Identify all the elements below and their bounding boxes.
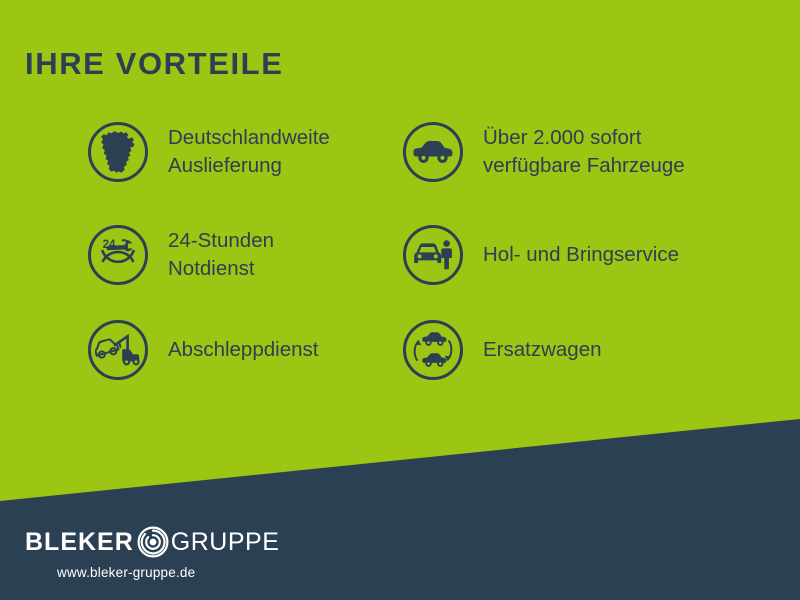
logo-lockup: BLEKER GRUPPE	[25, 525, 385, 559]
slide-canvas: IHRE VORTEILE Deutschlandweite Ausliefer…	[0, 0, 800, 600]
tow-truck-icon	[88, 320, 148, 380]
benefit-item-abschleppdienst: Abschleppdienst	[88, 320, 318, 380]
benefit-label: Über 2.000 sofort verfügbare Fahrzeuge	[483, 124, 685, 179]
benefit-label: Hol- und Bringservice	[483, 241, 679, 269]
benefit-label: Abschleppdienst	[168, 336, 318, 364]
benefit-label: 24-Stunden Notdienst	[168, 227, 274, 282]
benefit-item-ersatzwagen: Ersatzwagen	[403, 320, 602, 380]
benefits-list: Deutschlandweite Auslieferung Über 2.000…	[0, 0, 800, 420]
benefit-item-24-stunden-notdienst: 24 24-Stunden Notdienst	[88, 225, 274, 285]
24-hour-wrench-icon: 24	[88, 225, 148, 285]
footer-branding: BLEKER GRUPPE www.bleker-gruppe.de	[25, 525, 385, 580]
car-icon	[403, 122, 463, 182]
two-cars-exchange-icon	[403, 320, 463, 380]
brand-name-second: GRUPPE	[171, 530, 280, 555]
germany-map-icon	[88, 122, 148, 182]
brand-name-first: BLEKER	[25, 530, 134, 555]
car-with-person-icon	[403, 225, 463, 285]
benefit-label: Deutschlandweite Auslieferung	[168, 124, 330, 179]
benefit-item-deutschlandweite-auslieferung: Deutschlandweite Auslieferung	[88, 122, 330, 182]
benefit-item-verfuegbare-fahrzeuge: Über 2.000 sofort verfügbare Fahrzeuge	[403, 122, 685, 182]
benefit-item-hol-und-bringservice: Hol- und Bringservice	[403, 225, 679, 285]
benefit-label: Ersatzwagen	[483, 336, 602, 364]
website-url: www.bleker-gruppe.de	[57, 565, 385, 580]
spiral-logo-icon	[136, 525, 170, 559]
